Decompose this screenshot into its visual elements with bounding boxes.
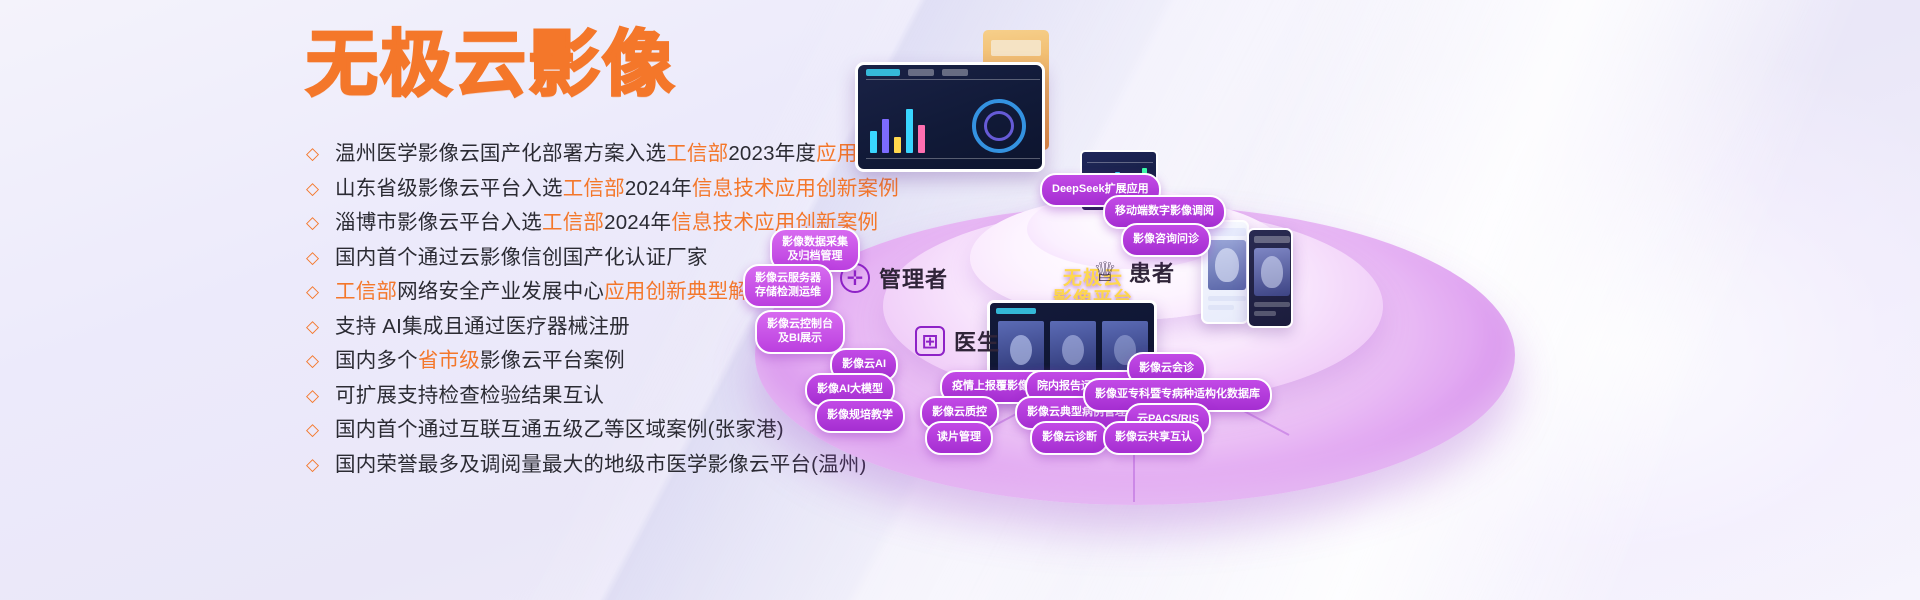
diamond-bullet-icon: ◇: [306, 387, 325, 404]
page-title: 无极云影像: [306, 28, 676, 100]
diamond-bullet-icon: ◇: [306, 214, 325, 231]
list-item-label: 国内首个通过互联互通五级乙等区域案例(张家港): [335, 412, 784, 442]
text-segment: 工信部: [335, 280, 397, 303]
text-segment: 工信部: [563, 177, 625, 200]
text-segment: 温州医学影像云国产化部署方案入选: [335, 142, 666, 165]
diamond-bullet-icon: ◇: [306, 180, 325, 197]
role-doctor[interactable]: ⊞ 医生: [915, 325, 1000, 357]
text-segment: 淄博市影像云平台入选: [335, 211, 542, 234]
diamond-bullet-icon: ◇: [306, 249, 325, 266]
text-segment: 工信部: [542, 211, 604, 234]
list-item-label: 可扩展支持检查检验结果互认: [335, 378, 604, 408]
text-segment: 工信部: [666, 142, 728, 165]
text-segment: 国内首个通过互联互通五级乙等区域案例(张家港): [335, 418, 784, 441]
role-patient[interactable]: ♕ 患者: [1090, 256, 1175, 288]
text-segment: 国内首个通过云影像信创国产化认证厂家: [335, 246, 708, 269]
text-segment: 国内多个: [335, 349, 418, 372]
list-item-label: 支持 AI集成且通过医疗器械注册: [335, 309, 630, 339]
analytics-dashboard-screen: [855, 62, 1045, 172]
diamond-bullet-icon: ◇: [306, 421, 325, 438]
text-segment: 可扩展支持检查检验结果互认: [335, 384, 604, 407]
banner-stage: 无极云影像 ◇温州医学影像云国产化部署方案入选工信部2023年度应用创新应用示范…: [0, 0, 1920, 600]
doctor-plus-icon: ⊞: [915, 326, 945, 356]
person-icon: ♕: [1090, 257, 1120, 287]
diamond-bullet-icon: ◇: [306, 283, 325, 300]
mobile-viewer-dark: [1247, 228, 1293, 328]
role-patient-label: 患者: [1129, 256, 1175, 288]
diamond-bullet-icon: ◇: [306, 318, 325, 335]
text-segment: 支持 AI集成且通过医疗器械注册: [335, 315, 630, 338]
text-segment: 2024年: [625, 177, 692, 200]
role-admin[interactable]: ✛ 管理者: [840, 262, 948, 294]
text-segment: 山东省级影像云平台入选: [335, 177, 563, 200]
role-admin-label: 管理者: [879, 262, 948, 294]
diamond-bullet-icon: ◇: [306, 145, 325, 162]
text-segment: 网络安全产业发展中心: [397, 280, 604, 303]
diamond-bullet-icon: ◇: [306, 456, 325, 473]
pill-cloud-server[interactable]: 影像云服务器存储检测运维: [743, 264, 833, 308]
text-segment: 影像云平台案例: [480, 349, 625, 372]
list-item-label: 国内首个通过云影像信创国产化认证厂家: [335, 240, 708, 270]
diamond-bullet-icon: ◇: [306, 352, 325, 369]
text-segment: 2024年: [604, 211, 671, 234]
pill-consult[interactable]: 影像咨询问诊: [1121, 223, 1211, 257]
role-doctor-label: 医生: [954, 325, 1000, 357]
platform-diagram: 无极云 影像平台: [735, 0, 1920, 600]
pill-film-mgmt[interactable]: 读片管理: [925, 421, 993, 455]
list-item-label: 国内多个省市级影像云平台案例: [335, 343, 625, 373]
text-segment: 省市级: [418, 349, 480, 372]
pill-teaching[interactable]: 影像规培教学: [815, 399, 905, 433]
pill-diagnose[interactable]: 影像云诊断: [1030, 421, 1109, 455]
pill-share[interactable]: 影像云共享互认: [1103, 421, 1204, 455]
pill-console-bi[interactable]: 影像云控制台及BI展示: [755, 310, 845, 354]
